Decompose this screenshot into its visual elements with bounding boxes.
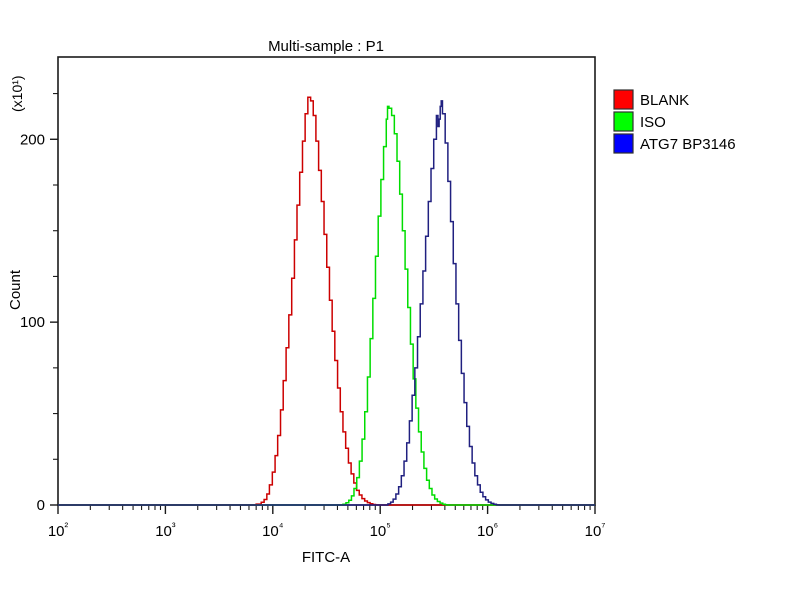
legend-label: ATG7 BP3146 [640, 136, 736, 153]
y-axis-ticks: 0100200 [20, 94, 58, 514]
legend-label: ISO [640, 114, 666, 131]
curve-atg7-bp3146 [58, 101, 595, 505]
chart-canvas: Multi-sample : P1 (x10¹) Count FITC-A 01… [0, 0, 800, 600]
flow-cytometry-histogram: Multi-sample : P1 (x10¹) Count FITC-A 01… [0, 0, 800, 600]
legend: BLANKISOATG7 BP3146 [614, 90, 736, 153]
legend-swatch [614, 112, 633, 131]
legend-label: BLANK [640, 92, 689, 109]
x-tick-label: 10⁷ [585, 521, 606, 540]
histogram-curves [58, 97, 595, 505]
y-tick-label: 200 [20, 131, 45, 148]
y-axis-multiplier: (x10¹) [9, 75, 25, 112]
x-tick-label: 10² [48, 521, 69, 540]
plot-frame [58, 57, 595, 505]
curve-iso [58, 106, 595, 505]
y-tick-label: 100 [20, 314, 45, 331]
x-tick-label: 10⁴ [262, 521, 284, 540]
chart-title: Multi-sample : P1 [268, 38, 384, 55]
x-tick-label: 10⁶ [477, 521, 498, 540]
curve-blank [58, 97, 595, 505]
x-axis-title: FITC-A [302, 549, 350, 566]
x-tick-label: 10³ [155, 521, 176, 540]
legend-swatch [614, 134, 633, 153]
y-tick-label: 0 [37, 497, 45, 514]
y-axis-title: Count [7, 269, 24, 310]
legend-swatch [614, 90, 633, 109]
x-axis-ticks: 10²10³10⁴10⁵10⁶10⁷ [48, 505, 606, 540]
x-tick-label: 10⁵ [370, 521, 391, 540]
